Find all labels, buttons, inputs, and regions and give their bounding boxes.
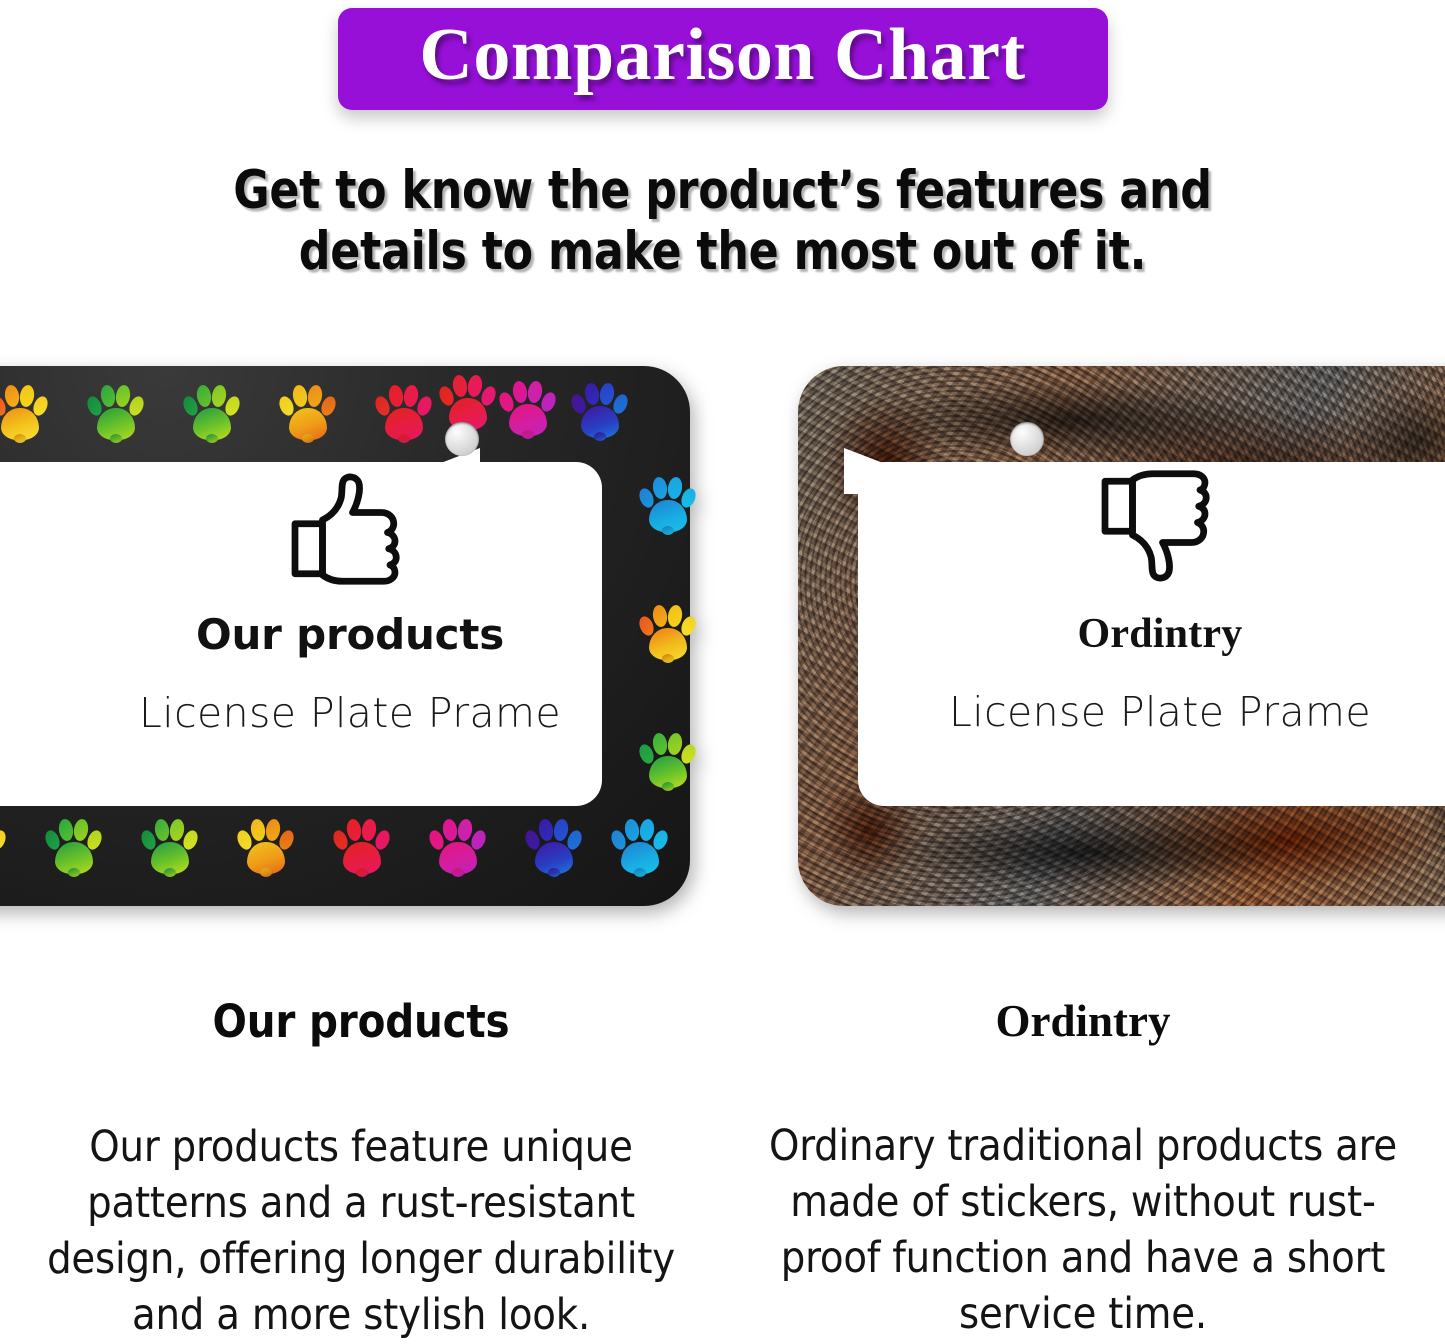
page-title: Comparison Chart bbox=[382, 16, 1064, 96]
our-products-column-title: Our products bbox=[40, 995, 682, 1048]
paw-print-icon bbox=[572, 382, 628, 440]
paw-print-icon bbox=[46, 818, 102, 876]
thumbs-up-icon bbox=[286, 470, 414, 590]
ordinary-product-card-heading: Ordintry bbox=[1078, 610, 1243, 658]
paw-print-icon bbox=[142, 818, 198, 876]
our-product-card: Our products License Plate Prame bbox=[40, 470, 660, 737]
paw-print-icon bbox=[376, 384, 432, 442]
paw-print-icon bbox=[0, 818, 6, 876]
paw-print-icon bbox=[640, 732, 696, 790]
paw-print-icon bbox=[184, 384, 240, 442]
paw-print-icon bbox=[612, 818, 668, 876]
paw-print-icon bbox=[0, 384, 48, 442]
paw-print-icon bbox=[440, 374, 496, 432]
comparison-column-ordintry: Ordintry Ordinary traditional products a… bbox=[722, 995, 1444, 1344]
thumbs-down-icon bbox=[1096, 470, 1224, 590]
paw-print-icon bbox=[238, 818, 294, 876]
paw-print-icon bbox=[88, 384, 144, 442]
comparison-columns: Our products Our products feature unique… bbox=[0, 995, 1445, 1344]
our-products-column-body: Our products feature unique patterns and… bbox=[40, 1120, 682, 1344]
paw-print-icon bbox=[334, 818, 390, 876]
mounting-hole-icon bbox=[1010, 422, 1044, 456]
our-product-card-heading: Our products bbox=[196, 610, 504, 659]
comparison-column-our-products: Our products Our products feature unique… bbox=[0, 995, 722, 1344]
paw-print-icon bbox=[526, 818, 582, 876]
ordintry-column-title: Ordintry bbox=[762, 995, 1404, 1047]
our-product-card-subheading: License Plate Prame bbox=[139, 689, 561, 737]
ordinary-product-card: Ordintry License Plate Prame bbox=[860, 470, 1445, 736]
mounting-hole-icon bbox=[445, 422, 479, 456]
subtitle-line-1: Get to know the product’s features and bbox=[51, 160, 1395, 221]
paw-print-icon bbox=[280, 384, 336, 442]
ordinary-product-card-subheading: License Plate Prame bbox=[949, 688, 1371, 736]
title-banner: Comparison Chart bbox=[338, 8, 1108, 110]
ordintry-column-body: Ordinary traditional products are made o… bbox=[762, 1119, 1404, 1343]
subtitle-line-2: details to make the most out of it. bbox=[51, 221, 1395, 282]
title-banner-wrapper: Comparison Chart bbox=[0, 8, 1445, 110]
paw-print-icon bbox=[430, 818, 486, 876]
page-subtitle: Get to know the product’s features and d… bbox=[51, 160, 1395, 283]
paw-print-icon bbox=[500, 380, 556, 438]
